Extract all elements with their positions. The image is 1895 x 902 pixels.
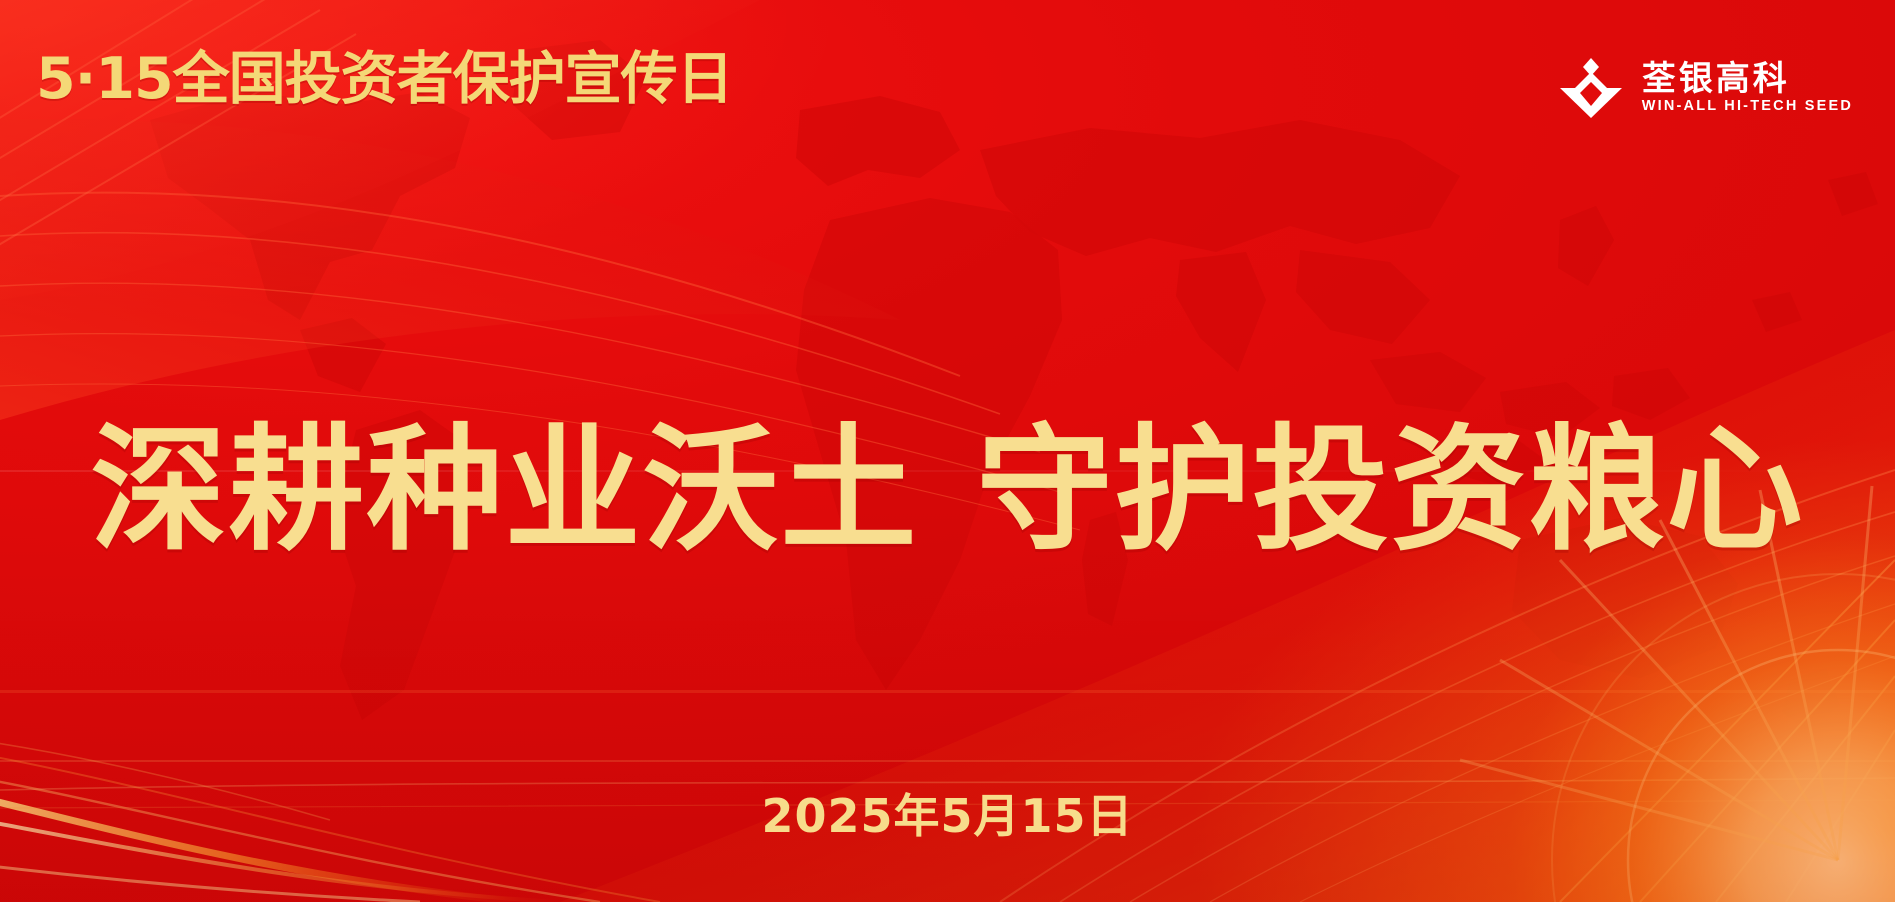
brand-logo: 荃银高科 WIN-ALL HI-TECH SEED [1560, 52, 1853, 124]
event-date: 2025年5月15日 [0, 793, 1895, 839]
brand-name-en: WIN-ALL HI-TECH SEED [1642, 99, 1853, 114]
brand-name-cn: 荃银高科 [1642, 62, 1790, 96]
headline-line-1: 深耕种业沃土 [91, 415, 919, 567]
investor-protection-banner: 5·15全国投资者保护宣传日 荃银高科 WIN-ALL HI-TECH SEED… [0, 0, 1895, 902]
brand-text: 荃银高科 WIN-ALL HI-TECH SEED [1642, 62, 1853, 114]
headline: 深耕种业沃土守护投资粮心 [0, 415, 1895, 567]
header-title: 5·15全国投资者保护宣传日 [36, 51, 733, 108]
chevron-diamond-logo-icon [1560, 58, 1622, 118]
headline-line-2: 守护投资粮心 [977, 415, 1805, 567]
